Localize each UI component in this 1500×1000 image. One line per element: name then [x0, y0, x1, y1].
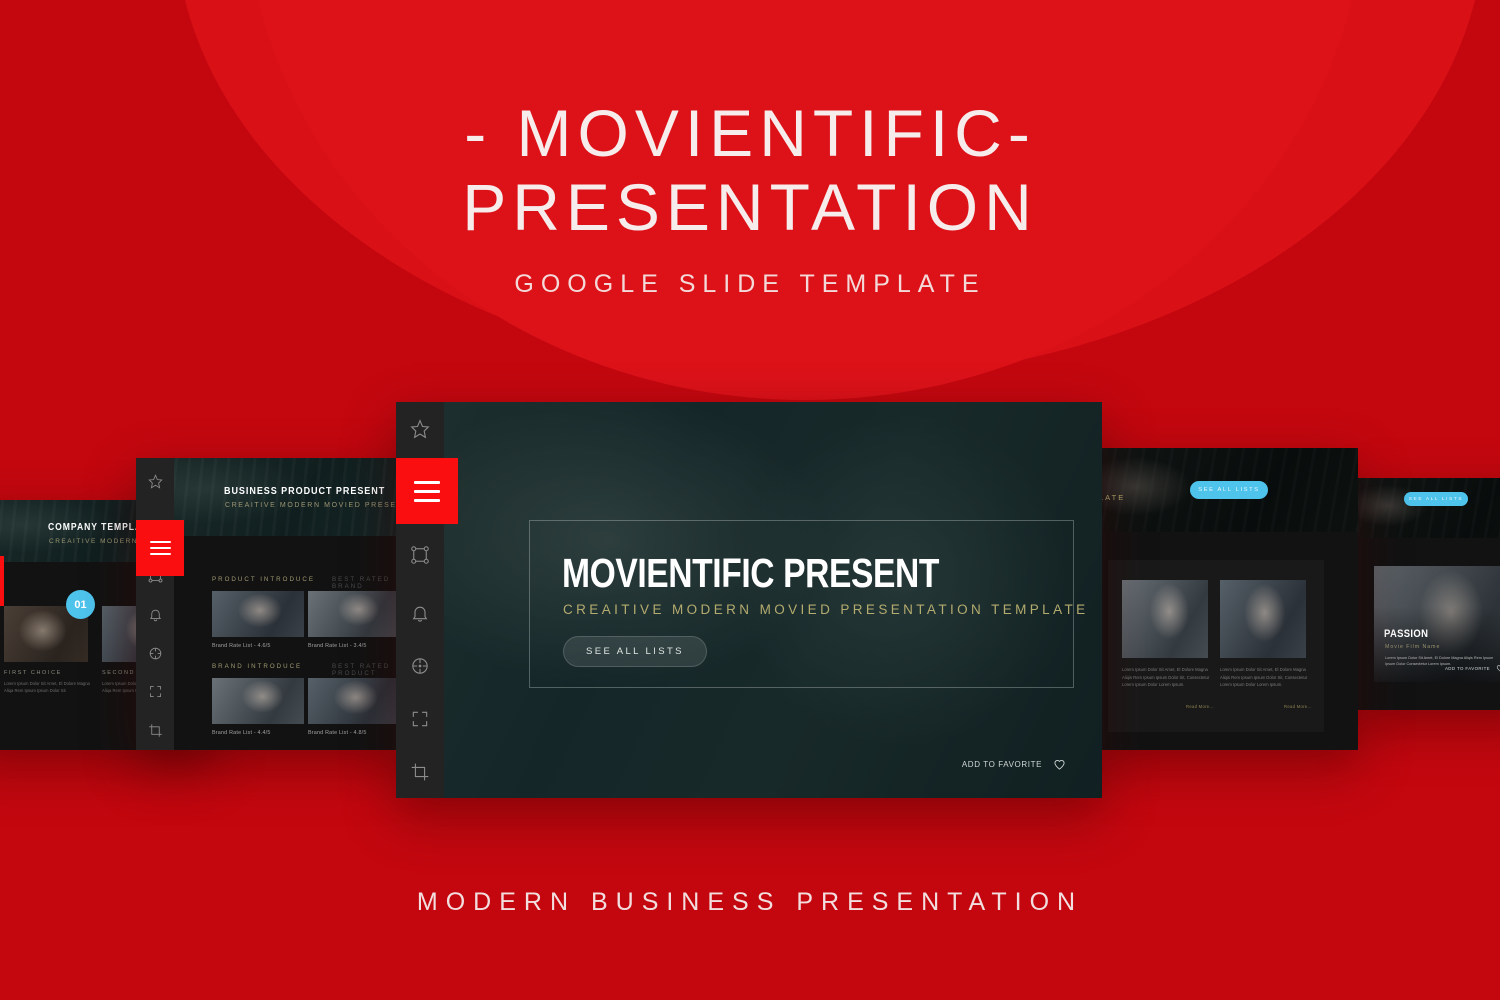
slide2-rating-4: Brand Rate List - 4.8/5 — [308, 730, 367, 736]
heart-outline-icon — [1053, 758, 1066, 771]
star-icon[interactable] — [396, 402, 444, 457]
slide2-thumb-3-photo — [212, 678, 304, 724]
slide2-title: BUSINESS PRODUCT PRESENT — [224, 485, 385, 497]
slide2-section-heading-3: BRAND INTRODUCE — [212, 663, 302, 670]
hamburger-menu-icon[interactable] — [136, 520, 184, 576]
slide3-entry-1-read-more[interactable]: Read More... — [1186, 704, 1214, 709]
slide-preview-list-entries[interactable]: PLATE SEE ALL LISTS Lorem Ipsum Dolor Si… — [1086, 448, 1358, 750]
main-add-to-favorite[interactable]: ADD TO FAVORITE — [962, 758, 1066, 771]
slide2-rating-2: Brand Rate List - 3.4/5 — [308, 643, 367, 649]
slide4-passion-subtitle: Movie Film Name — [1385, 644, 1440, 650]
crop-icon[interactable] — [396, 745, 444, 798]
slide2-thumb-4-photo — [308, 678, 400, 724]
slide3-entry-2-photo — [1220, 580, 1306, 658]
hamburger-menu-icon[interactable] — [0, 556, 4, 606]
slide4-passion-title: PASSION — [1384, 628, 1428, 640]
hamburger-menu-icon[interactable] — [396, 458, 458, 524]
slide2-rating-1: Brand Rate List - 4.6/5 — [212, 643, 271, 649]
slide2-thumb-1-photo — [212, 591, 304, 637]
main-slide-subtitle: CREAITIVE MODERN MOVIED PRESENTATION TEM… — [563, 602, 1089, 617]
slide-main-movientific[interactable]: MOVIENTIFIC PRESENT CREAITIVE MODERN MOV… — [396, 402, 1102, 798]
slide1-badge-01: 01 — [66, 590, 95, 619]
target-compass-icon[interactable] — [396, 640, 444, 693]
fullscreen-frame-icon[interactable] — [396, 693, 444, 746]
hero-title-line-1: - MOVIENTIFIC- — [0, 96, 1500, 170]
crop-icon[interactable] — [136, 711, 174, 750]
main-see-all-lists-button[interactable]: SEE ALL LISTS — [563, 636, 707, 667]
hero-heading-block: - MOVIENTIFIC- PRESENTATION GOOGLE SLIDE… — [0, 96, 1500, 299]
slide2-section-heading-1: PRODUCT INTRODUCE — [212, 576, 315, 583]
slide3-entry-2-body: Lorem Ipsum Dolor Sit Amet, El Dolore Ma… — [1220, 666, 1316, 689]
star-icon[interactable] — [136, 458, 174, 504]
slide2-thumb-2-photo — [308, 591, 400, 637]
slide2-rating-3: Brand Rate List - 4.4/5 — [212, 730, 271, 736]
slide2-thumb-3[interactable] — [212, 678, 304, 724]
slide4-hero-tint — [1352, 478, 1500, 538]
hero-title-line-2: PRESENTATION — [0, 170, 1500, 244]
transform-nodes-icon[interactable] — [396, 523, 444, 587]
slide2-sidebar-rail — [136, 458, 174, 750]
slide4-hero — [1352, 478, 1500, 538]
slide3-entry-1-photo — [1122, 580, 1208, 658]
slide3-entry-1-body: Lorem Ipsum Dolor Sit Amet, El Dolore Ma… — [1122, 666, 1218, 689]
bell-icon[interactable] — [396, 587, 444, 640]
fullscreen-frame-icon[interactable] — [136, 672, 174, 711]
slide-preview-passion[interactable]: SEE ALL LISTS PASSION Movie Film Name Lo… — [1352, 478, 1500, 710]
slide4-favorite-label: ADD TO FAVORITE — [1445, 666, 1490, 671]
slide-preview-business-product[interactable]: BUSINESS PRODUCT PRESENT CREAITIVE MODER… — [136, 458, 412, 750]
slide2-subtitle: CREAITIVE MODERN MOVIED PRESENTA — [225, 502, 412, 509]
target-compass-icon[interactable] — [136, 634, 174, 673]
hero-subtitle: GOOGLE SLIDE TEMPLATE — [0, 270, 1500, 299]
slide1-card-1-label: FIRST CHOICE — [4, 670, 62, 676]
slide1-card-1-body: Lorem Ipsum Dolor Sit Amet, El Dolore Ma… — [4, 680, 90, 694]
slide3-entry-2-thumb[interactable] — [1220, 580, 1306, 658]
slide4-add-to-favorite[interactable]: ADD TO FAVORITE — [1445, 664, 1500, 672]
heart-outline-icon — [1496, 664, 1500, 672]
hero-footer-text: MODERN BUSINESS PRESENTATION — [0, 888, 1500, 917]
slide2-thumb-2[interactable] — [308, 591, 400, 637]
slide4-passion-card[interactable]: PASSION Movie Film Name Lorem Ipsum Dolo… — [1374, 566, 1500, 682]
slide3-see-all-lists-button[interactable]: SEE ALL LISTS — [1190, 481, 1268, 499]
bell-icon[interactable] — [136, 595, 174, 634]
slide2-thumb-1[interactable] — [212, 591, 304, 637]
main-favorite-label: ADD TO FAVORITE — [962, 760, 1042, 769]
slide2-thumb-4[interactable] — [308, 678, 400, 724]
slide3-entry-1-thumb[interactable] — [1122, 580, 1208, 658]
slide3-entry-2-read-more[interactable]: Read More... — [1284, 704, 1312, 709]
main-slide-title: MOVIENTIFIC PRESENT — [562, 550, 939, 597]
slide4-see-all-lists-button[interactable]: SEE ALL LISTS — [1404, 492, 1468, 506]
